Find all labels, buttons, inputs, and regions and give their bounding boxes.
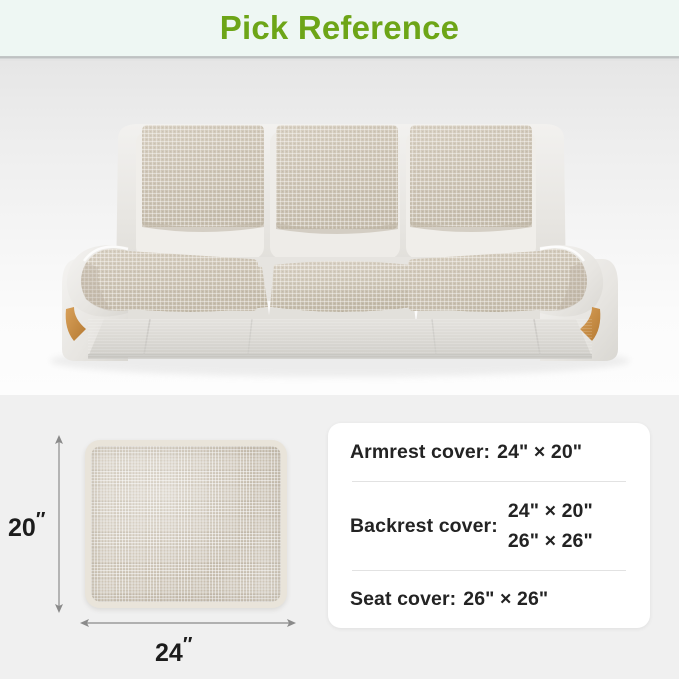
- width-dimension-arrow: [78, 611, 298, 635]
- spec-value-backrest-2: 26" × 26": [508, 530, 593, 553]
- spec-row-armrest: Armrest cover: 24" × 20": [350, 423, 628, 481]
- height-unit: ″: [36, 509, 45, 531]
- spec-row-backrest: Backrest cover: 24" × 20" 26" × 26": [350, 482, 628, 570]
- width-dimension-label: 24″: [155, 635, 191, 666]
- spec-value-backrest-1: 24" × 20": [508, 500, 593, 523]
- seat-cushion-center: [268, 261, 416, 328]
- backrest-cover-center: [276, 125, 398, 234]
- spec-row-seat: Seat cover: 26" × 26": [350, 571, 628, 627]
- page-title: Pick Reference: [220, 11, 459, 44]
- size-spec-card: Armrest cover: 24" × 20" Backrest cover:…: [328, 423, 650, 628]
- dimension-section: 20″ 24″ Armrest cover: 24" × 20" Backres…: [0, 395, 679, 679]
- product-photo-panel: [0, 61, 679, 395]
- spec-values-backrest: 24" × 20" 26" × 26": [508, 500, 593, 553]
- width-unit: ″: [183, 634, 192, 656]
- cover-swatch-texture: [91, 446, 281, 602]
- height-dimension-label: 20″: [8, 510, 44, 541]
- spec-label-armrest: Armrest cover:: [350, 441, 490, 464]
- header-band: Pick Reference: [0, 0, 679, 56]
- swatch-diagram: 20″ 24″: [0, 395, 320, 679]
- cover-swatch: [85, 440, 287, 608]
- height-value: 20: [8, 514, 36, 542]
- spec-value-armrest: 24" × 20": [497, 441, 582, 464]
- spec-label-backrest: Backrest cover:: [350, 515, 498, 538]
- sofa-illustration: [0, 61, 679, 395]
- spec-value-seat: 26" × 26": [463, 588, 548, 611]
- backrest-cover-right: [410, 125, 532, 232]
- backrest-cover-left: [142, 125, 264, 232]
- spec-label-seat: Seat cover:: [350, 588, 456, 611]
- infographic-page: Pick Reference: [0, 0, 679, 679]
- width-value: 24: [155, 639, 183, 667]
- height-dimension-arrow: [46, 433, 72, 615]
